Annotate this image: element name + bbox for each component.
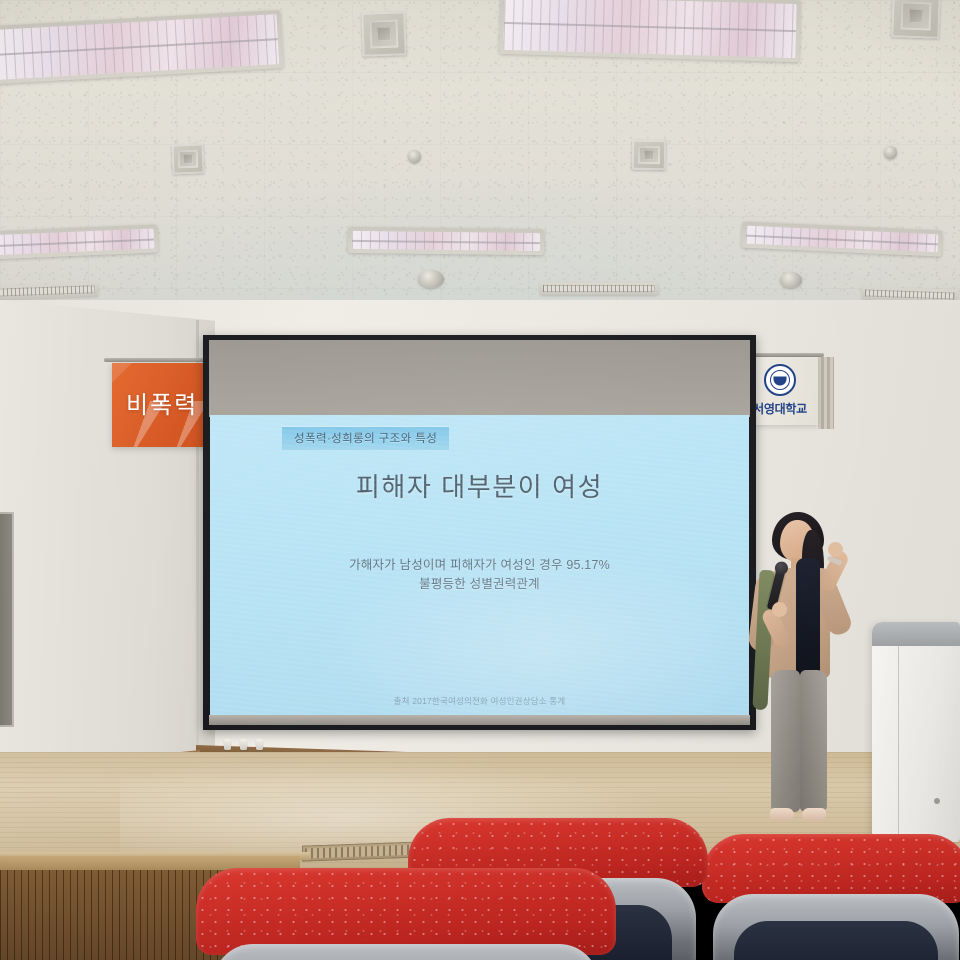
slide-content: 성폭력·성희롱의 구조와 특성 피해자 대부분이 여성 가해자가 남성이며 피해… [210,415,749,715]
presenter-right-hand [828,542,843,557]
slide-source-note: 출처 2017한국여성의전화 여성인권상담소 통계 [210,695,749,707]
ceiling-air-diffuser [361,11,407,57]
ceiling-sprinkler-head [408,150,421,163]
slide-section-tag: 성폭력·성희롱의 구조와 특성 [282,426,449,450]
orange-banner-text: 비폭력 [126,385,198,420]
ceiling-air-diffuser [891,0,941,39]
presenter-left-hand [772,602,787,617]
air-purifier-top-panel [872,622,960,646]
seat-shell [213,944,599,960]
presenter [744,508,870,848]
ceiling-troffer-light [499,0,801,62]
presenter-left-shoe [770,808,794,821]
air-purifier-seam [898,646,899,842]
slide-body: 가해자가 남성이며 피해자가 여성인 경우 95.17% 불평등한 성별권력관계 [210,556,749,595]
slide-body-line-1: 가해자가 남성이며 피해자가 여성인 경우 95.17% [210,556,749,575]
ceiling-troffer-light [348,227,544,255]
wall-hook [224,739,231,750]
wall-curtain [818,357,834,429]
air-purifier[interactable] [872,622,960,842]
seat-inner-back [734,921,938,960]
air-purifier-indicator [934,798,940,804]
ceiling-air-diffuser [632,140,667,171]
presenter-right-leg [800,670,827,812]
wall-hook-group [224,739,263,750]
side-doorway[interactable] [0,512,14,727]
university-crest-icon [764,364,796,396]
university-banner-text: 서영대학교 [753,400,807,417]
ceiling-slot-vent [540,282,658,295]
ceiling-air-diffuser [171,143,204,174]
slide-body-line-2: 불평등한 성별권력관계 [210,575,749,594]
presenter-left-leg [771,670,800,812]
projection-screen: 성폭력·성희롱의 구조와 특성 피해자 대부분이 여성 가해자가 남성이며 피해… [203,335,756,730]
ceiling-speaker [418,270,444,288]
lecture-hall-scene: 비폭력 서영대학교 성폭력·성희롱의 구조와 특성 피해자 대부분이 여성 가해… [0,0,960,960]
wall-hook [240,739,247,750]
presenter-right-shoe [802,808,826,821]
screen-blank-area [209,340,750,417]
presenter-trousers [771,670,827,812]
seat-cushion [702,834,960,903]
projected-slide: 성폭력·성희롱의 구조와 특성 피해자 대부분이 여성 가해자가 남성이며 피해… [210,415,749,715]
ceiling-sprinkler-head [884,146,897,159]
seat-cushion [196,868,616,955]
ceiling-speaker [780,272,802,288]
slide-headline: 피해자 대부분이 여성 [210,467,749,504]
screen-bottom-weight-bar [209,715,750,725]
wall-hook [256,739,263,750]
auditorium-seat[interactable] [702,834,960,960]
auditorium-seat[interactable] [196,868,616,960]
